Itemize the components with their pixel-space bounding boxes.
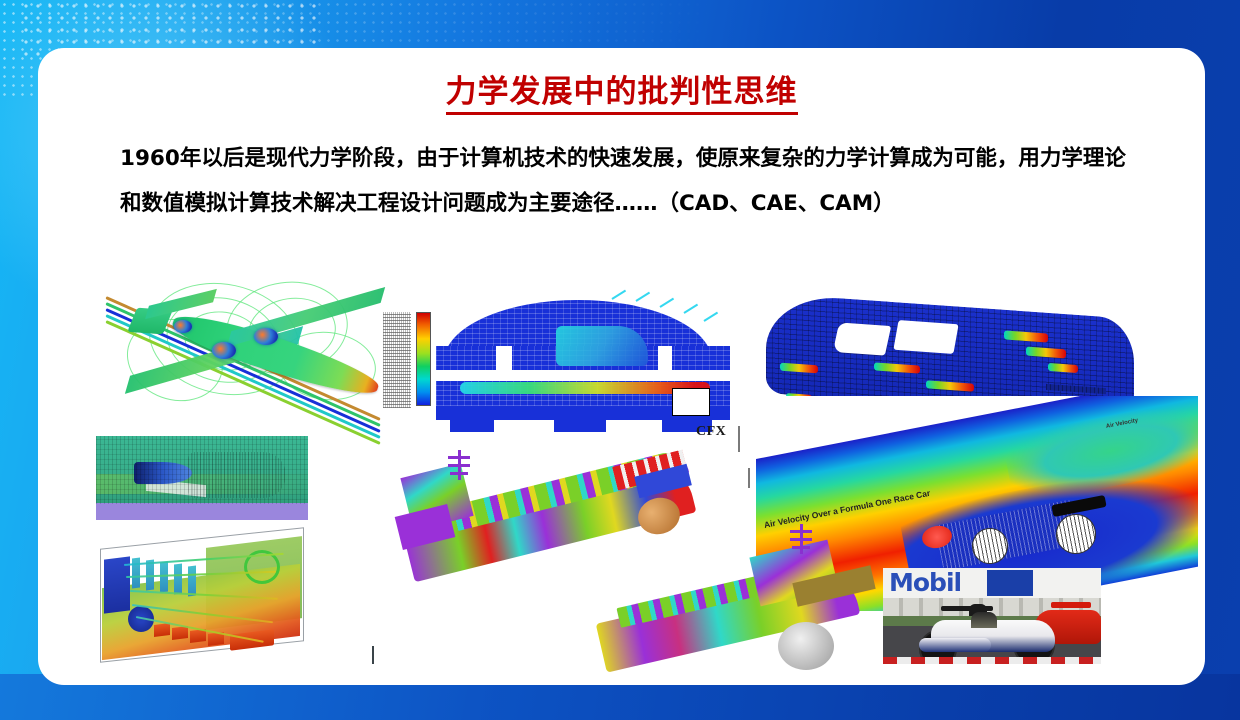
velocity-vector — [611, 290, 626, 300]
velocity-vector — [659, 298, 674, 308]
second-car-rear-wing — [1051, 602, 1091, 608]
interior-flow-structure — [556, 326, 648, 366]
window-cutout — [893, 320, 958, 354]
mast-crossbar — [448, 456, 470, 459]
cfd-colorbar-legend — [383, 306, 433, 416]
velocity-vector — [703, 312, 718, 322]
hot-component — [154, 623, 170, 637]
slide-card: 力学发展中的批判性思维 1960年以后是现代力学阶段，由于计算机技术的快速发展，… — [38, 48, 1205, 685]
page-title: 力学发展中的批判性思维 — [38, 66, 1205, 111]
cockpit-helmet — [971, 612, 997, 628]
stray-tick-mark — [372, 646, 374, 664]
mast-crossbar — [790, 538, 812, 541]
heatsink-fin — [188, 566, 196, 597]
axis-tick-mark — [748, 468, 750, 488]
axis-tick-mark — [738, 426, 740, 452]
page-title-text: 力学发展中的批判性思维 — [446, 74, 798, 115]
engine-nacelle — [212, 342, 236, 359]
colorbar-gradient — [416, 312, 431, 406]
window-cutout — [833, 322, 891, 355]
symmetry-plane-band — [96, 504, 308, 520]
foundation-block — [554, 420, 606, 432]
engine-nacelle — [174, 320, 192, 333]
track-kerb — [883, 657, 1101, 664]
f1-race-car-photo: Mobil — [883, 568, 1101, 664]
lead-car-nose — [919, 638, 991, 652]
body-paragraph: 1960年以后是现代力学阶段，由于计算机技术的快速发展，使原来复杂的力学计算成为… — [120, 136, 1130, 226]
engine-nozzle-mesh-figure — [96, 436, 308, 520]
cfx-airflow-figure: CFX — [436, 296, 738, 448]
interface-gap — [436, 370, 730, 381]
opening — [496, 346, 512, 370]
outlet-box — [672, 388, 710, 416]
cfx-watermark-label: CFX — [696, 424, 726, 440]
heatsink-fin — [160, 562, 168, 593]
velocity-vector — [683, 304, 698, 314]
mast-crossbar — [790, 530, 812, 533]
offshore-vessel-fea-figure — [598, 518, 898, 683]
colorbar-tick-labels — [383, 312, 411, 408]
trackside-banner: Mobil — [883, 568, 1101, 598]
banner-text: Mobil — [889, 568, 961, 597]
engine-nacelle — [254, 328, 278, 345]
electronics-cooling-figure — [96, 528, 310, 668]
banner-blue-block — [987, 570, 1033, 596]
heatsink-fin — [174, 564, 182, 595]
hot-component — [172, 626, 188, 640]
bulbous-bow — [778, 622, 834, 670]
opening — [658, 346, 672, 370]
mast-crossbar — [450, 472, 468, 475]
velocity-vector — [635, 292, 650, 302]
foundation-block — [450, 420, 494, 432]
mast-crossbar — [448, 464, 470, 467]
mast-crossbar — [792, 546, 810, 549]
airplane-cfd-figure — [108, 280, 418, 455]
